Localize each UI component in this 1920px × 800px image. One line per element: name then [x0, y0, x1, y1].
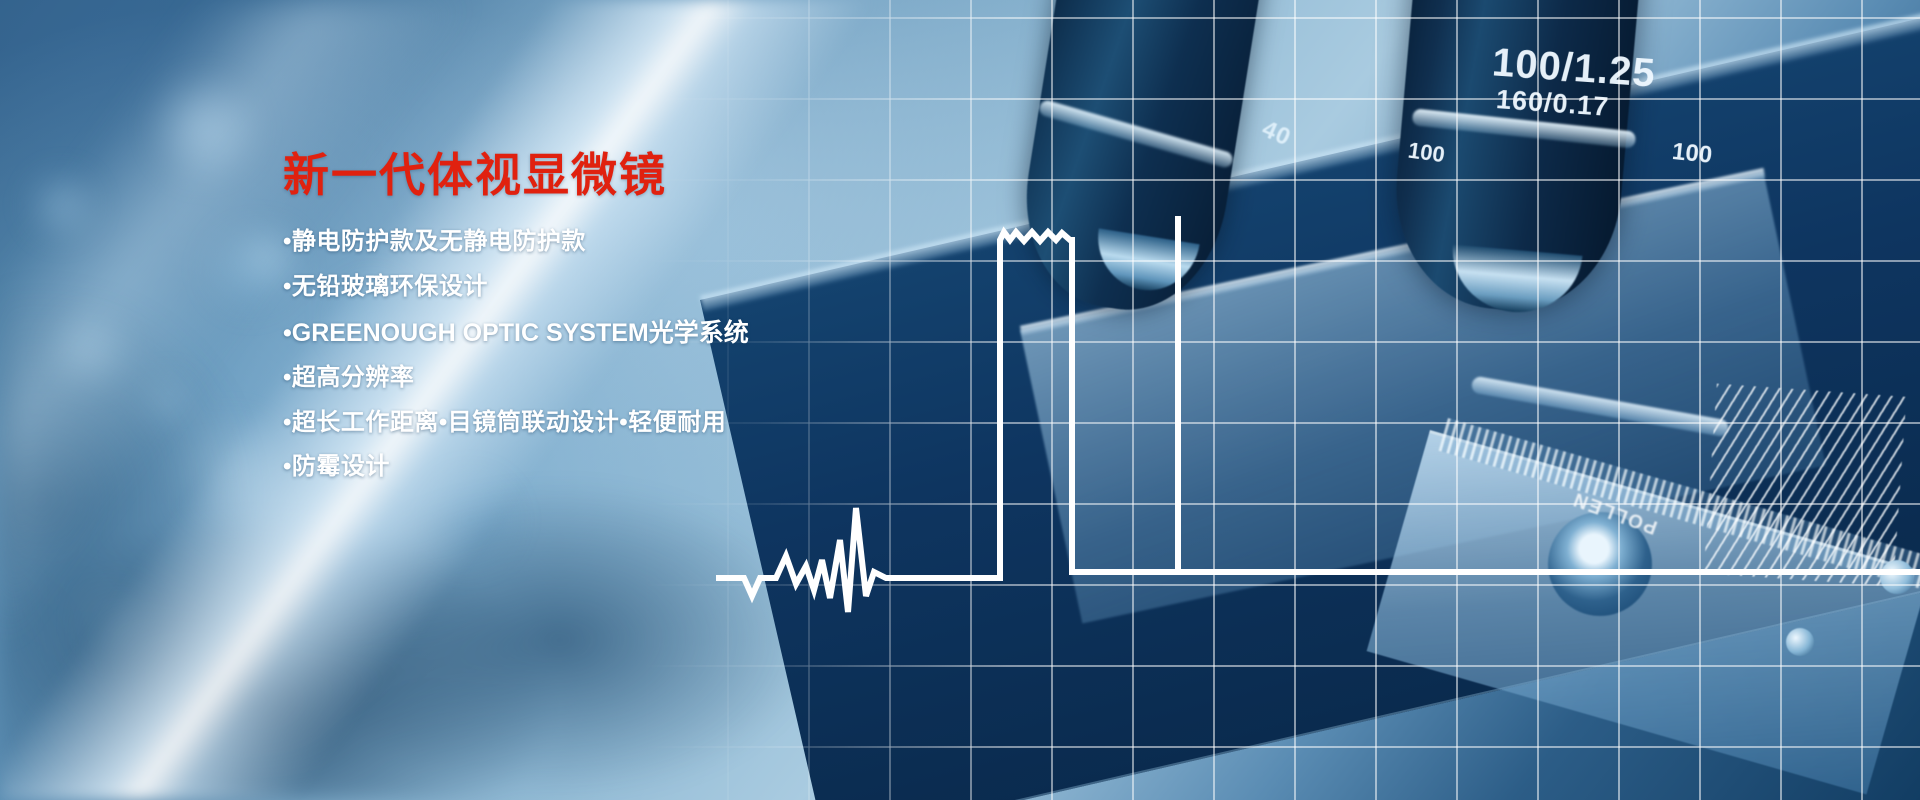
feature-item-6: •防霉设计 [283, 453, 1003, 482]
feature-item-2: •无铅玻璃环保设计 [283, 273, 1003, 302]
page-title: 新一代体视显微镜 [283, 148, 1003, 202]
feature-item-3: •GREENOUGH OPTIC SYSTEM光学系统 [283, 318, 1003, 348]
feature-item-5: •超长工作距离•目镜筒联动设计•轻便耐用 [283, 409, 1003, 438]
banner-copy: 新一代体视显微镜 •静电防护款及无静电防护款 •无铅玻璃环保设计 •GREENO… [283, 148, 1003, 498]
feature-item-1: •静电防护款及无静电防护款 [283, 228, 1003, 257]
feature-item-4: •超高分辨率 [283, 364, 1003, 393]
product-banner: POLLEN 40 100/1.25 160/0.17 100 100 新一代体… [0, 0, 1920, 800]
